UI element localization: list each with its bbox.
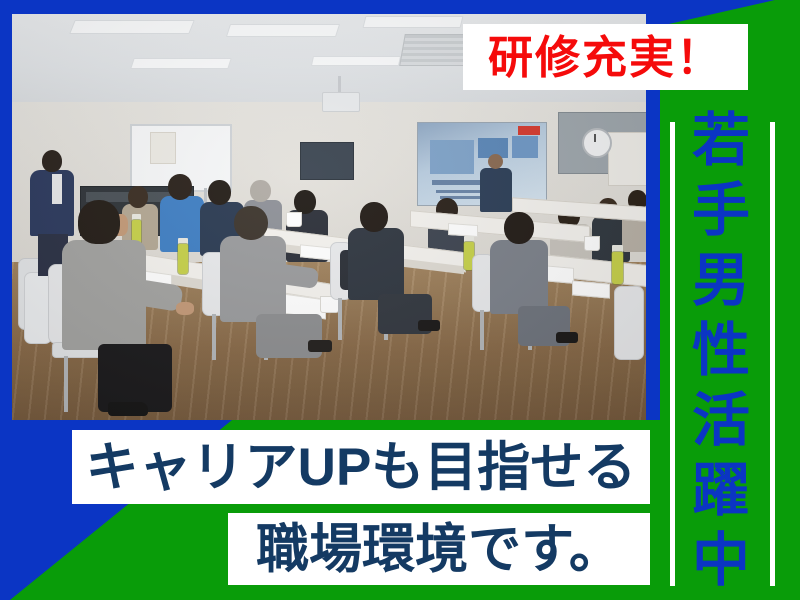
side-char-0: 若 <box>692 112 750 170</box>
side-rule-right <box>770 122 775 586</box>
header-badge: 研修充実！ <box>463 24 748 90</box>
caption-line-1: キャリアUPも目指せる <box>72 430 650 504</box>
caption-line-1-text: キャリアUPも目指せる <box>86 441 637 494</box>
side-char-3: 性 <box>692 322 750 380</box>
side-char-4: 活 <box>692 392 750 450</box>
side-char-6: 中 <box>692 532 750 590</box>
caption-line-2-text: 職場環境です。 <box>256 523 622 576</box>
recruitment-banner: 若 手 男 性 活 躍 中 研修充実！ キャリアUPも目指せる 職場環境です。 <box>0 0 800 600</box>
caption-line-2: 職場環境です。 <box>228 513 650 585</box>
side-vertical-headline: 若 手 男 性 活 躍 中 <box>684 112 758 590</box>
side-char-2: 男 <box>692 252 750 310</box>
side-char-5: 躍 <box>692 462 750 520</box>
side-char-1: 手 <box>692 182 750 240</box>
header-badge-text: 研修充実！ <box>488 35 723 80</box>
side-rule-left <box>670 122 675 586</box>
